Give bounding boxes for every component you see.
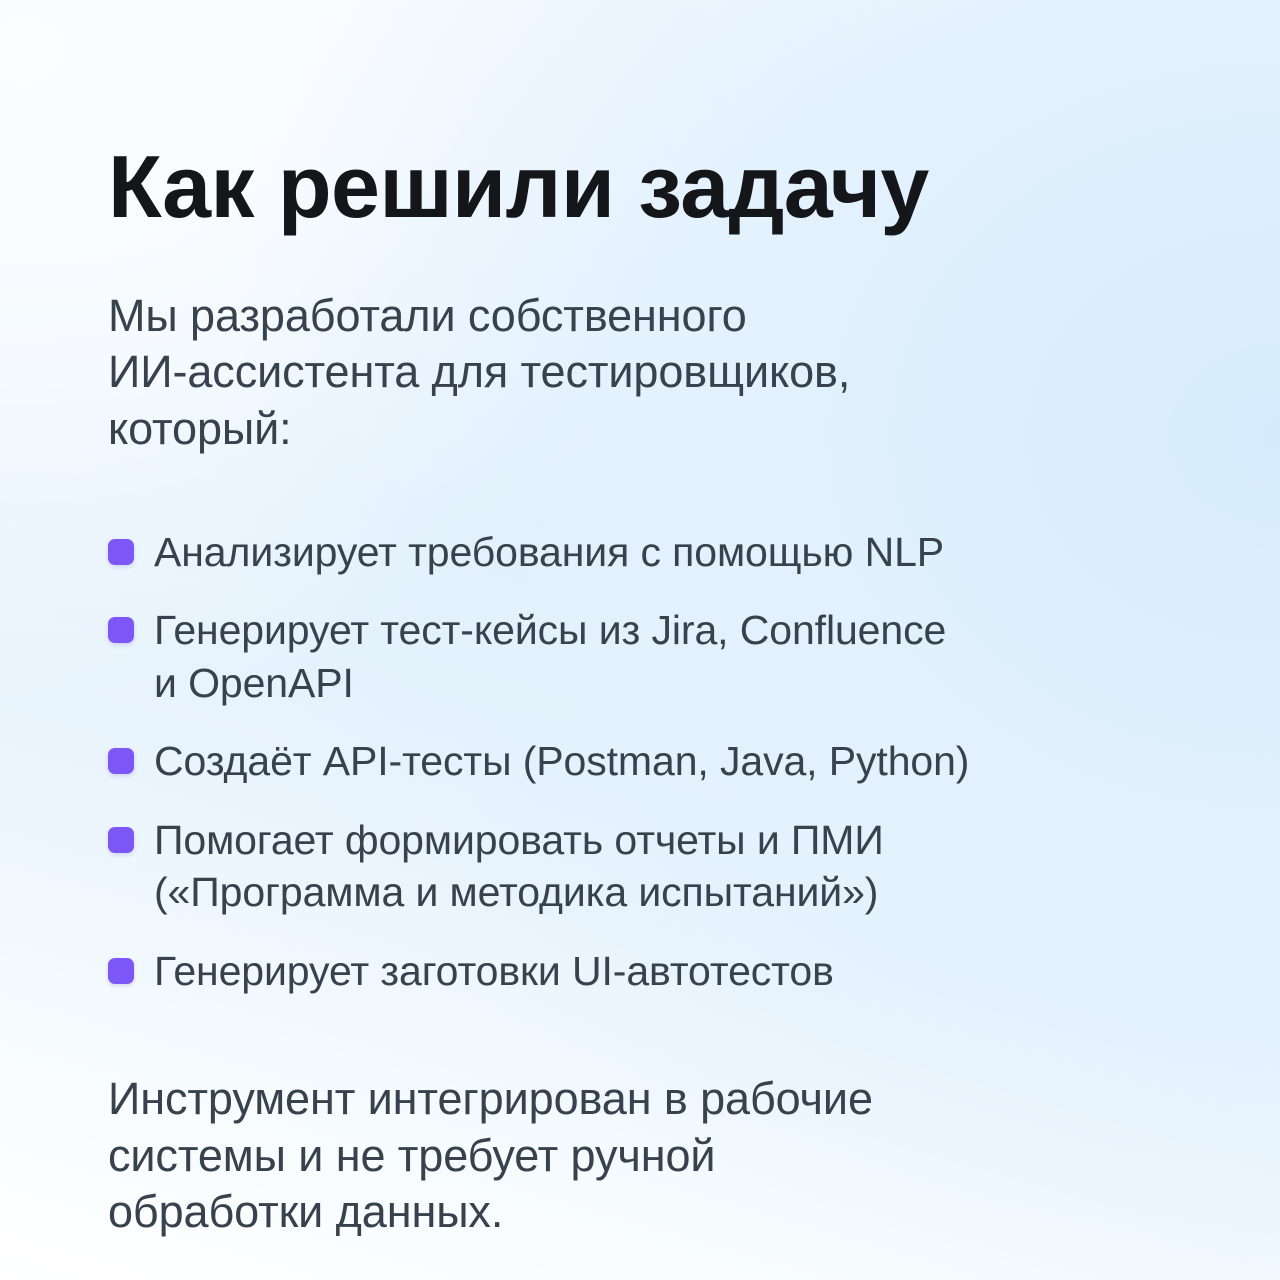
purple-square-bullet-icon — [108, 539, 134, 565]
list-item-text: Генерирует тест-кейсы из Jira, Confluenc… — [154, 604, 1118, 709]
outro-paragraph: Инструмент интегрирован в рабочие систем… — [108, 997, 1038, 1241]
purple-square-bullet-icon — [108, 827, 134, 853]
list-item-line: Помогает формировать отчеты и ПМИ — [154, 814, 1118, 866]
list-item-text: Анализирует требования с помощью NLP — [154, 526, 1118, 578]
list-item-text: Генерирует заготовки UI-автотестов — [154, 945, 1118, 997]
purple-square-bullet-icon — [108, 748, 134, 774]
list-item-line: («Программа и методика испытаний») — [154, 866, 1118, 918]
purple-square-bullet-icon — [108, 617, 134, 643]
list-item: Генерирует заготовки UI-автотестов — [108, 945, 1118, 997]
list-item: Создаёт API-тесты (Postman, Java, Python… — [108, 735, 1118, 787]
list-item-text: Помогает формировать отчеты и ПМИ («Прог… — [154, 814, 1118, 919]
slide-canvas: Как решили задачу Мы разработали собстве… — [0, 0, 1280, 1280]
outro-line: обработки данных. — [108, 1184, 1038, 1241]
list-item-text: Создаёт API-тесты (Postman, Java, Python… — [154, 735, 1118, 787]
list-item-line: Анализирует требования с помощью NLP — [154, 526, 1118, 578]
list-item: Помогает формировать отчеты и ПМИ («Прог… — [108, 814, 1118, 919]
slide-content: Как решили задачу Мы разработали собстве… — [108, 0, 1118, 1241]
list-item-line: Генерирует заготовки UI-автотестов — [154, 945, 1118, 997]
list-item-line: Создаёт API-тесты (Postman, Java, Python… — [154, 735, 1118, 787]
outro-line: Инструмент интегрирован в рабочие — [108, 1071, 1038, 1128]
intro-line: который: — [108, 401, 1008, 458]
intro-paragraph: Мы разработали собственного ИИ-ассистент… — [108, 232, 1008, 458]
page-title: Как решили задачу — [108, 0, 1118, 232]
list-item: Генерирует тест-кейсы из Jira, Confluenc… — [108, 604, 1118, 709]
intro-line: Мы разработали собственного — [108, 288, 1008, 345]
outro-line: системы и не требует ручной — [108, 1128, 1038, 1185]
list-item-line: и OpenAPI — [154, 657, 1118, 709]
list-item-line: Генерирует тест-кейсы из Jira, Confluenc… — [154, 604, 1118, 656]
intro-line: ИИ-ассистента для тестировщиков, — [108, 344, 1008, 401]
feature-bullet-list: Анализирует требования с помощью NLP Ген… — [108, 458, 1118, 997]
list-item: Анализирует требования с помощью NLP — [108, 526, 1118, 578]
purple-square-bullet-icon — [108, 958, 134, 984]
